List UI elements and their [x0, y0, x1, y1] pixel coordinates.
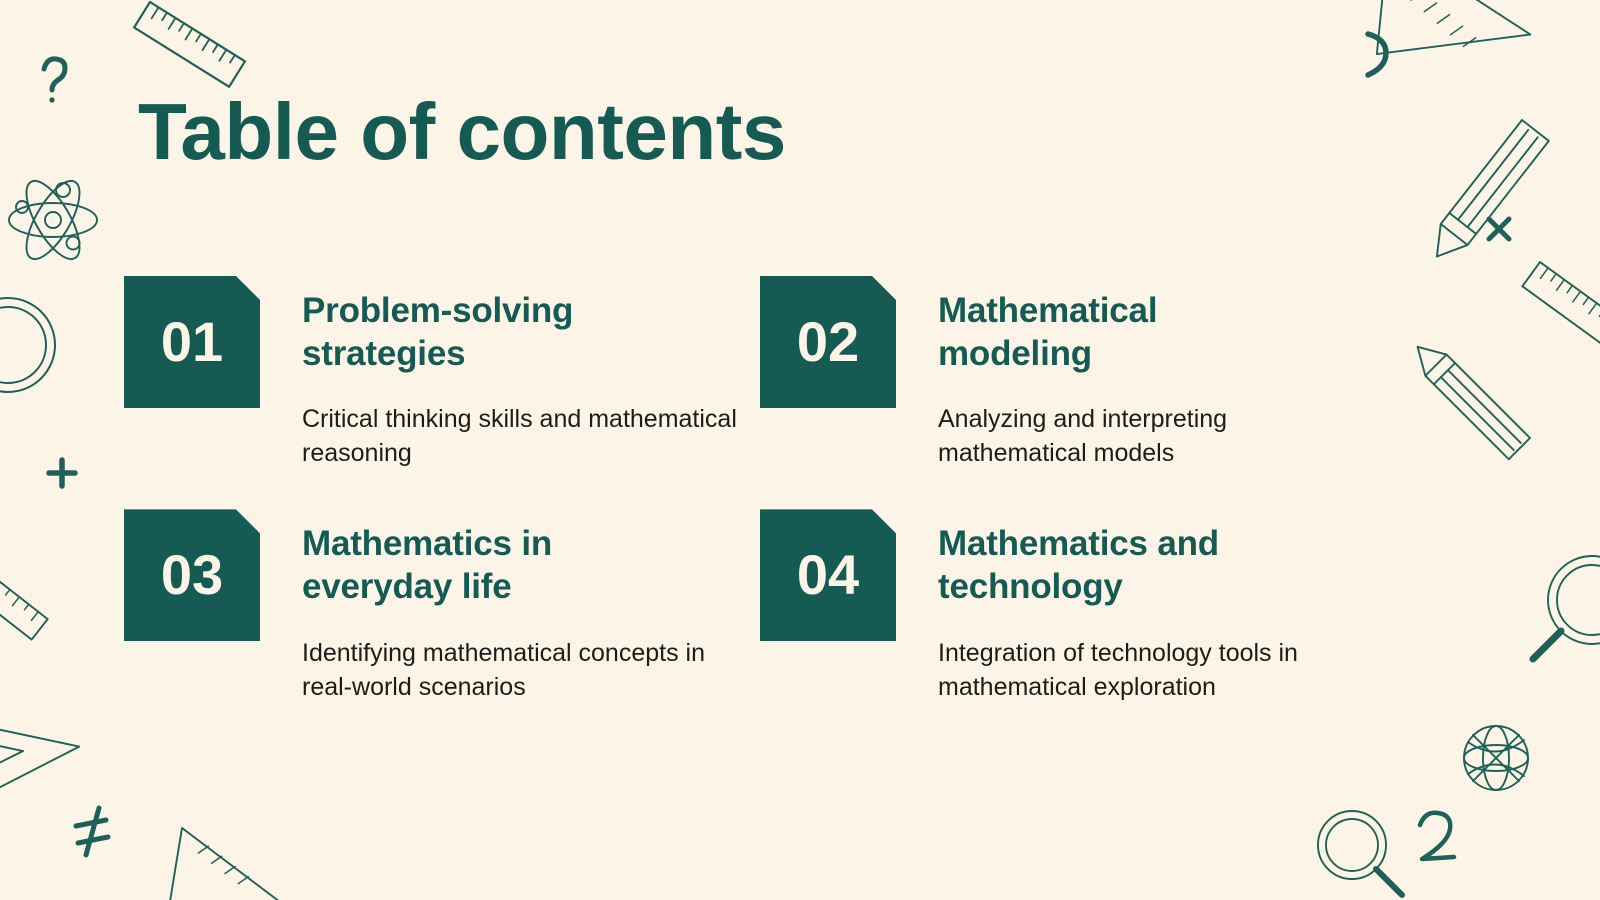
- toc-text-04: Mathematics and technology Integration o…: [938, 509, 1368, 703]
- toc-item-04[interactable]: 04 Mathematics and technology Integratio…: [760, 509, 1396, 703]
- toc-number-badge-04: 04: [760, 509, 896, 641]
- toc-description-03: Identifying mathematical concepts in rea…: [302, 636, 757, 704]
- toc-heading-02[interactable]: Mathematical modeling: [938, 290, 1298, 375]
- toc-item-02[interactable]: 02 Mathematical modeling Analyzing and i…: [760, 276, 1396, 470]
- toc-description-04: Integration of technology tools in mathe…: [938, 636, 1368, 704]
- toc-text-02: Mathematical modeling Analyzing and inte…: [938, 276, 1368, 470]
- toc-item-01[interactable]: 01 Problem-solving strategies Critical t…: [124, 276, 760, 470]
- toc-heading-01[interactable]: Problem-solving strategies: [302, 290, 642, 375]
- toc-description-02: Analyzing and interpreting mathematical …: [938, 402, 1368, 470]
- slide-root: Table of contents 01 Problem-solving str…: [0, 0, 1600, 900]
- toc-number-badge-03: 03: [124, 509, 260, 641]
- toc-text-01: Problem-solving strategies Critical thin…: [302, 276, 757, 470]
- toc-item-03[interactable]: 03 Mathematics in everyday life Identify…: [124, 509, 760, 703]
- toc-heading-03[interactable]: Mathematics in everyday life: [302, 523, 642, 608]
- toc-number-badge-02: 02: [760, 276, 896, 408]
- toc-text-03: Mathematics in everyday life Identifying…: [302, 509, 757, 703]
- toc-grid: 01 Problem-solving strategies Critical t…: [124, 276, 1484, 704]
- toc-number-badge-01: 01: [124, 276, 260, 408]
- toc-description-01: Critical thinking skills and mathematica…: [302, 402, 757, 470]
- page-title: Table of contents: [138, 92, 786, 172]
- toc-heading-04[interactable]: Mathematics and technology: [938, 523, 1298, 608]
